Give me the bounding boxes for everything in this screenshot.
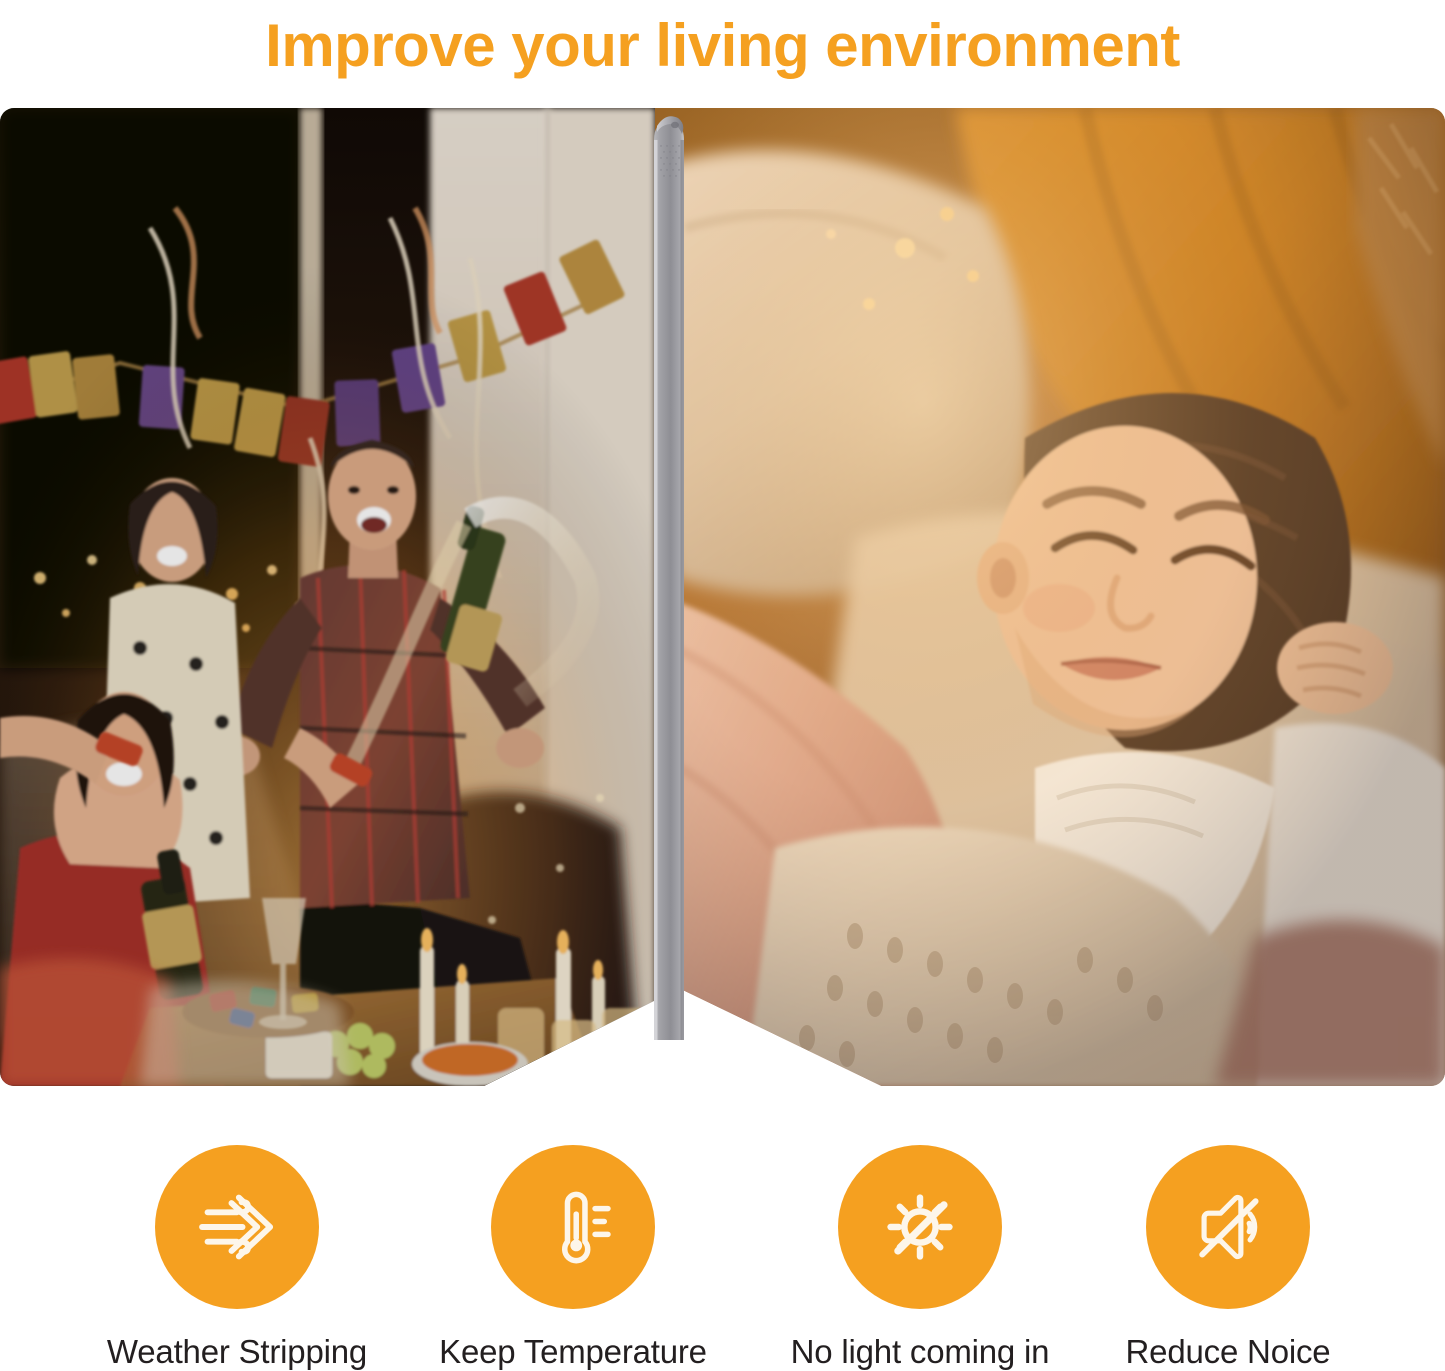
feature-badge-row: Weather Stripping [0, 1145, 1445, 1371]
feature-weather-stripping[interactable]: Weather Stripping [62, 1145, 412, 1371]
feature-badge-circle [491, 1145, 655, 1309]
hero-comparison-band [0, 108, 1445, 1086]
door-seal-strip [0, 108, 42, 1036]
feature-badge-circle [1146, 1145, 1310, 1309]
feature-label: Weather Stripping [62, 1333, 412, 1371]
feature-label: No light coming in [745, 1333, 1095, 1371]
party-celebration-photo [0, 108, 655, 1086]
wind-arrow-icon [191, 1181, 283, 1273]
speaker-mute-icon [1182, 1181, 1274, 1273]
sleeping-child-photo [655, 108, 1445, 1086]
feature-label: Reduce Noice [1053, 1333, 1403, 1371]
hero-clip-shape [0, 108, 1445, 1086]
feature-badge-circle [838, 1145, 1002, 1309]
feature-reduce-noise[interactable]: Reduce Noice [1053, 1145, 1403, 1371]
thermometer-icon [527, 1181, 619, 1273]
feature-badge-circle [155, 1145, 319, 1309]
sun-slash-icon [874, 1181, 966, 1273]
feature-label: Keep Temperature [398, 1333, 748, 1371]
feature-no-light[interactable]: No light coming in [745, 1145, 1095, 1371]
feature-keep-temperature[interactable]: Keep Temperature [398, 1145, 748, 1371]
page-headline: Improve your living environment [0, 0, 1445, 90]
